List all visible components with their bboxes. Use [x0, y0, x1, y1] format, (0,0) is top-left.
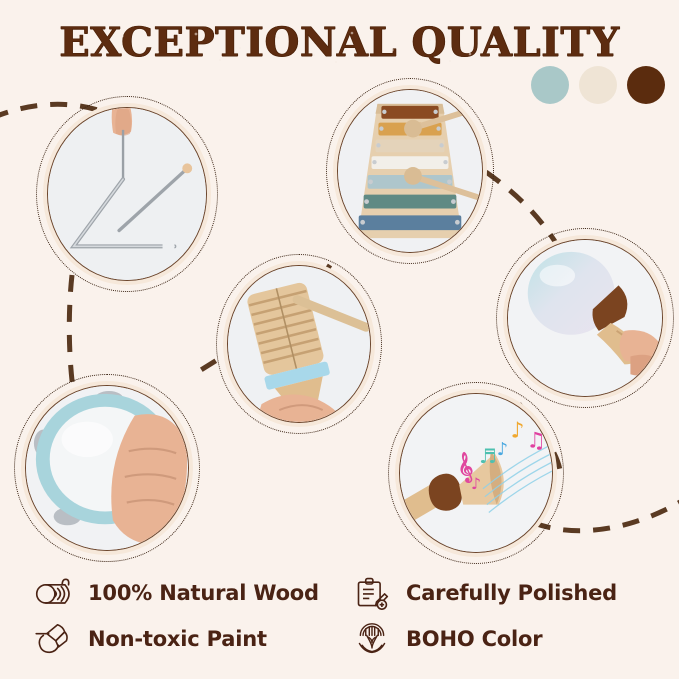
swatch-dark-brown	[627, 66, 665, 104]
feature-carefully-polished: Carefully Polished	[352, 572, 658, 614]
photo-maraca	[508, 240, 662, 396]
swatch-sage-blue	[531, 66, 569, 104]
wood-log-icon	[34, 576, 74, 610]
infographic-canvas: EXCEPTIONAL QUALITY	[0, 0, 679, 679]
feature-boho-color: BOHO Color	[352, 618, 658, 660]
svg-text:♪: ♪	[471, 474, 481, 493]
photo-triangle	[48, 108, 206, 280]
feature-label-carefully-polished: Carefully Polished	[406, 581, 617, 605]
bubble-inner-ring	[47, 107, 207, 281]
photo-tambourine	[26, 386, 188, 550]
bubble-inner-ring	[25, 385, 189, 551]
svg-text:♪: ♪	[511, 418, 525, 443]
photo-guiro	[228, 266, 370, 422]
feature-label-boho-color: BOHO Color	[406, 627, 542, 651]
boho-emblem-icon	[352, 622, 392, 656]
color-swatch-row	[531, 66, 665, 104]
bubble-maraca	[496, 228, 674, 408]
bubble-inner-ring	[227, 265, 371, 423]
clipboard-check-icon	[352, 576, 392, 610]
photo-xylophone	[338, 90, 482, 252]
feature-list: 100% Natural Wood Carefully Polished	[34, 572, 658, 660]
feature-label-natural-wood: 100% Natural Wood	[88, 581, 319, 605]
feature-label-non-toxic-paint: Non-toxic Paint	[88, 627, 267, 651]
bubble-inner-ring: 𝄞 ♬ ♪ ♪ ♫ ♪	[399, 393, 553, 553]
page-title: EXCEPTIONAL QUALITY	[0, 16, 679, 70]
bubble-guiro	[216, 254, 382, 434]
bubble-triangle	[36, 96, 218, 292]
svg-text:♬: ♬	[479, 445, 497, 468]
swatch-cream	[579, 66, 617, 104]
bubble-tambourine	[14, 374, 200, 562]
feature-non-toxic-paint: Non-toxic Paint	[34, 618, 340, 660]
bubble-horn: 𝄞 ♬ ♪ ♪ ♫ ♪	[388, 382, 564, 564]
bubble-inner-ring	[337, 89, 483, 253]
bubble-inner-ring	[507, 239, 663, 397]
feature-natural-wood: 100% Natural Wood	[34, 572, 340, 614]
svg-text:♪: ♪	[497, 440, 508, 460]
photo-horn: 𝄞 ♬ ♪ ♪ ♫ ♪	[400, 394, 552, 552]
paint-brush-icon	[34, 622, 74, 656]
bubble-xylophone	[326, 78, 494, 264]
